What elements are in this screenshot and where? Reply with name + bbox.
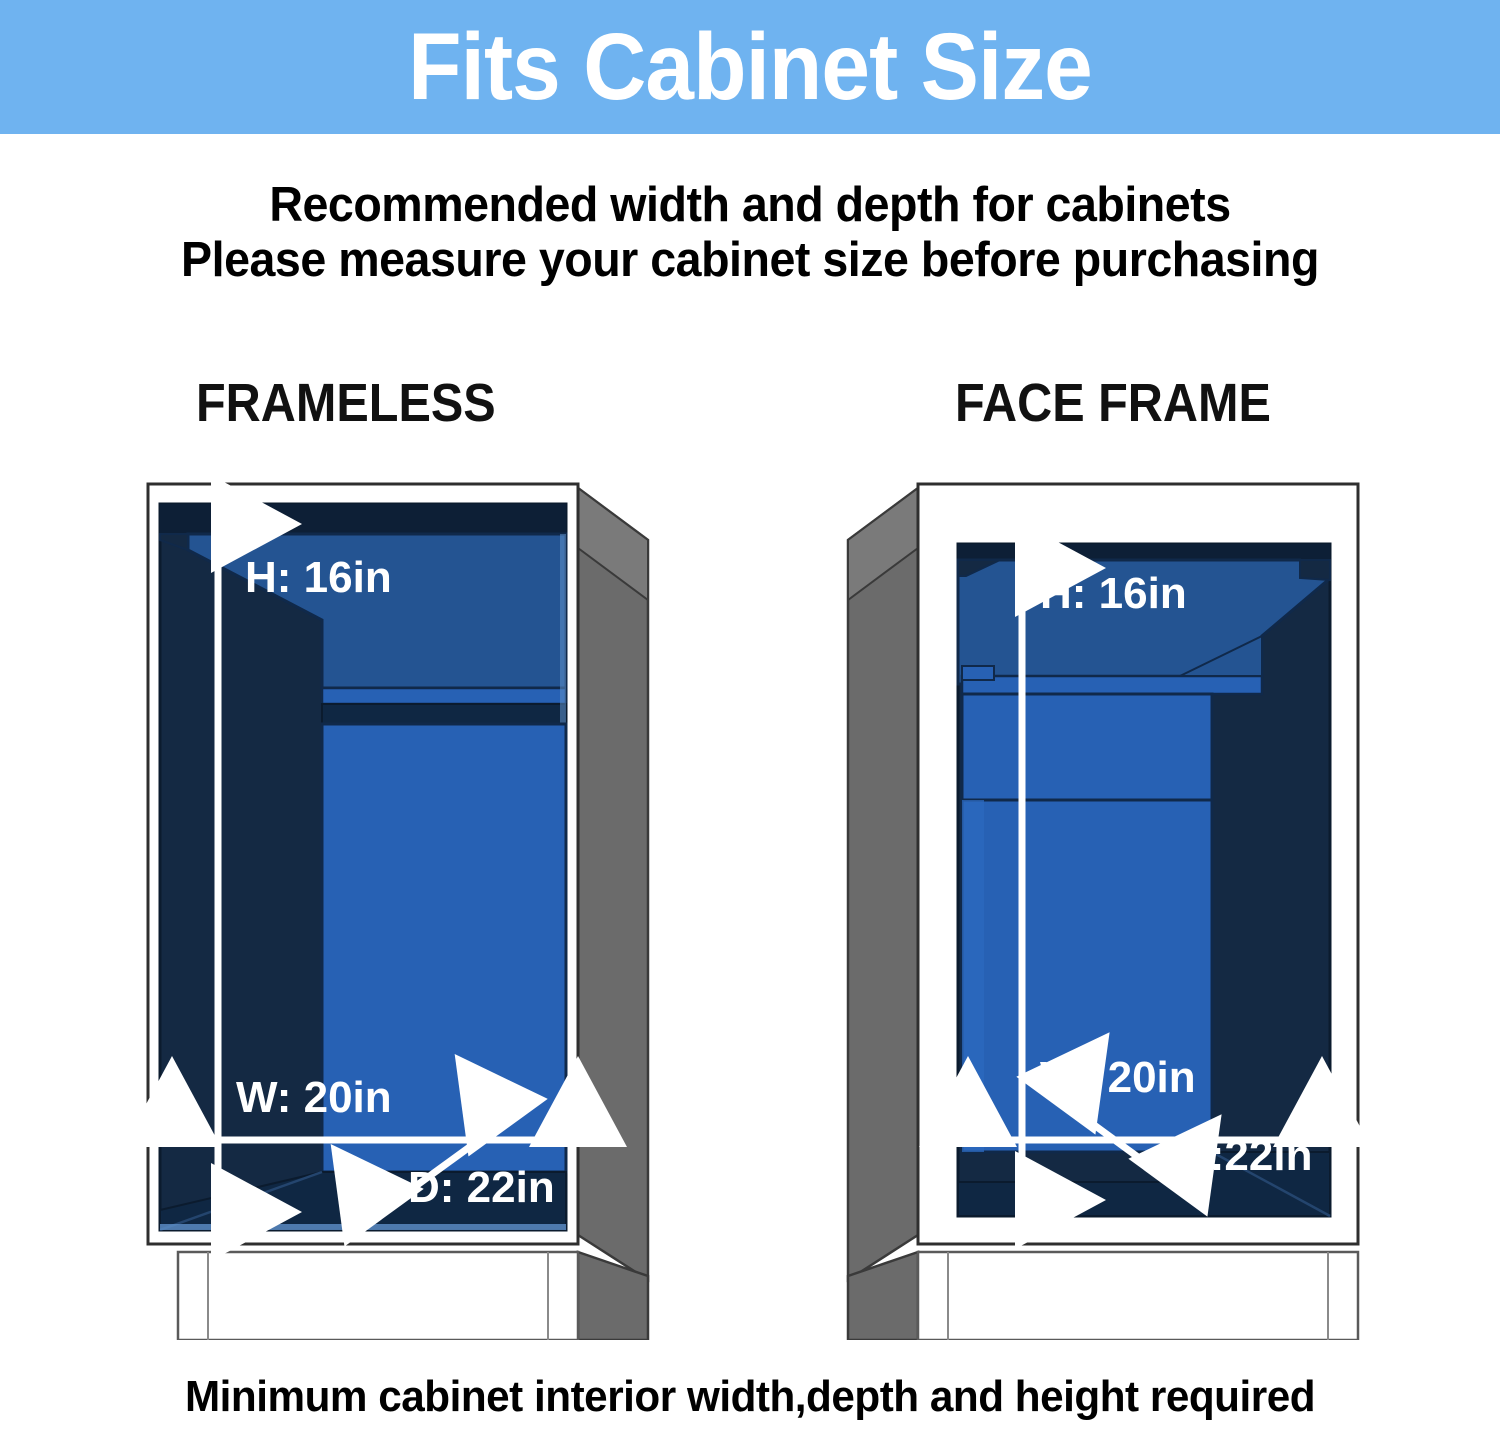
header-banner: Fits Cabinet Size	[0, 0, 1500, 134]
subtitle-line-1: Recommended width and depth for cabinets	[38, 178, 1463, 233]
height-label-right: H: 16in	[1040, 569, 1187, 618]
width-label-right: W: 20in	[1040, 1053, 1196, 1102]
insert-rim-left	[322, 688, 566, 704]
insert-upper-block-right	[962, 694, 1212, 800]
insert-tab-right	[962, 666, 994, 680]
width-label-left: W: 20in	[236, 1073, 392, 1122]
section-label-frameless: FRAMELESS	[196, 372, 496, 434]
depth-label-left: D: 22in	[408, 1163, 555, 1212]
insert-rim-right	[962, 676, 1262, 694]
insert-rim-shadow-left	[322, 704, 566, 724]
cabinet-side-panel-right-unit	[848, 488, 918, 1280]
insert-top-chamfer-right-a	[1300, 560, 1330, 580]
height-label-left: H: 16in	[245, 553, 392, 602]
depth-label-right: D:22in	[1178, 1131, 1312, 1180]
cabinet-diagrams: H: 16in W: 20in D: 22in	[0, 440, 1500, 1340]
cabinet-frameless: H: 16in W: 20in D: 22in	[148, 484, 648, 1340]
section-label-face-frame: FACE FRAME	[955, 372, 1271, 434]
insert-rim-edge-left	[560, 534, 566, 724]
bottom-caption: Minimum cabinet interior width,depth and…	[30, 1372, 1470, 1422]
cabinet-face-frame: H: 16in W: 20in D:22in	[848, 484, 1358, 1340]
cabinet-interior-back-band-right	[958, 544, 1330, 560]
page-title: Fits Cabinet Size	[60, 0, 1440, 134]
cabinet-toe-kick-left-unit	[178, 1252, 578, 1340]
insert-body-highlight-right	[962, 800, 984, 1152]
subtitle-block: Recommended width and depth for cabinets…	[0, 178, 1500, 288]
cabinet-toe-kick-right-unit	[918, 1252, 1358, 1340]
cabinet-size-infographic: Fits Cabinet Size Recommended width and …	[0, 0, 1500, 1433]
cabinet-side-panel-left-unit	[578, 488, 648, 1280]
subtitle-line-2: Please measure your cabinet size before …	[38, 233, 1463, 288]
cabinet-floor-sliver-left	[160, 1224, 566, 1230]
